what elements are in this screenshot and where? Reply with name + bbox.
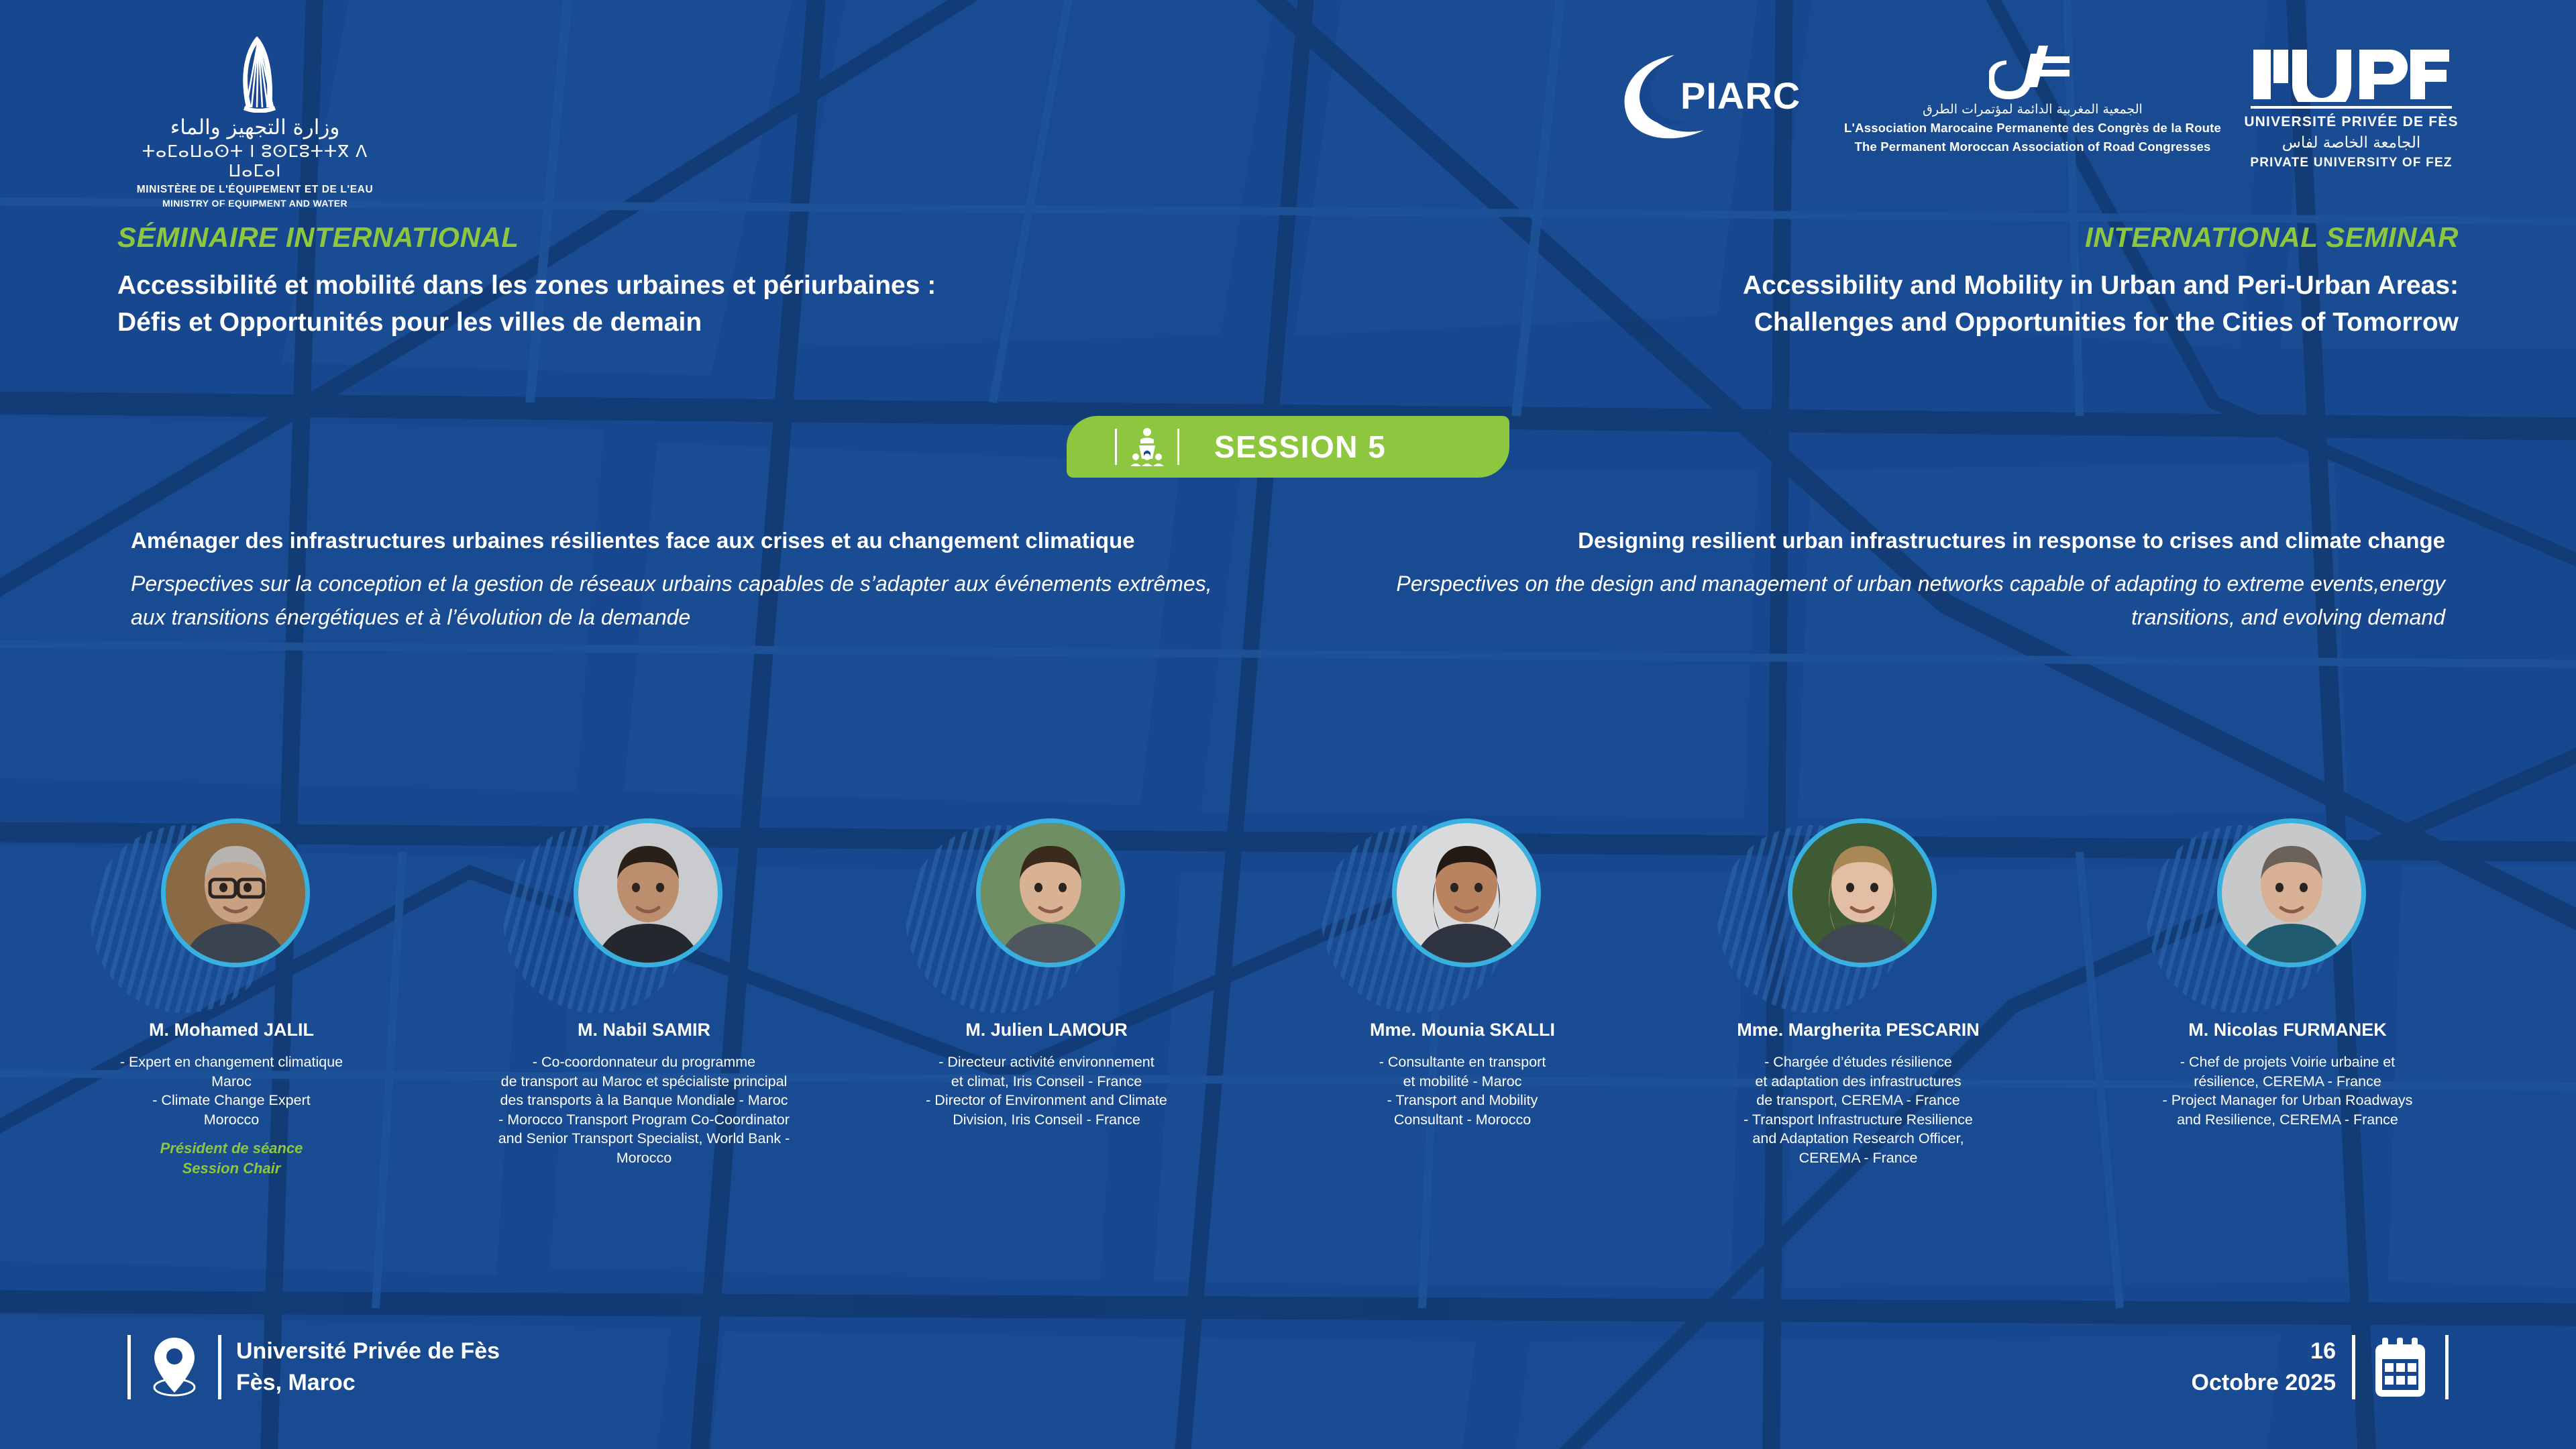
speaker-photo-wrapper [946,805,1147,1013]
upf-english: PRIVATE UNIVERSITY OF FEZ [2241,156,2462,170]
kicker-french: SÉMINAIRE INTERNATIONAL [117,221,1191,254]
kicker-english: INTERNATIONAL SEMINAR [1385,221,2459,254]
speaker-card: M. Julien LAMOUR- Directeur activité env… [845,805,1248,1129]
speaker-avatar [2217,818,2366,967]
title-french-line2: Défis et Opportunités pour les villes de… [117,304,1191,341]
piarc-logo: PIARC [1610,47,1811,141]
speaker-card: M. Nabil SAMIR- Co-coordonnateur du prog… [436,805,852,1168]
arch-bridge-icon [205,32,305,113]
date-text: 16 Octobre 2025 [2192,1336,2336,1399]
date-day: 16 [2192,1336,2336,1367]
speaker-avatar [161,818,310,967]
venue-line2: Fès, Maroc [236,1367,500,1399]
upf-monogram-icon [2251,47,2452,102]
upf-french: UNIVERSITÉ PRIVÉE DE FÈS [2241,114,2462,130]
speaker-avatar [1392,818,1541,967]
session-description-english: Designing resilient urban infrastructure… [1358,523,2445,635]
speaker-photo-wrapper [1758,805,1959,1013]
speaker-role: - Co-coordonnateur du programmede transp… [436,1053,852,1168]
speaker-role: - Consultante en transportet mobilité - … [1261,1053,1664,1129]
amr-monogram-icon [1989,42,2076,99]
speaker-avatar [1788,818,1937,967]
badge-divider-left [1115,429,1117,465]
title-english-line2: Challenges and Opportunities for the Cit… [1385,304,2459,341]
speaker-name: M. Mohamed JALIL [30,1018,433,1042]
date-divider-right [2445,1335,2449,1399]
speakers-row: M. Mohamed JALIL- Expert en changement c… [0,805,2576,1301]
date-block: 16 Octobre 2025 [2192,1335,2449,1399]
session-chair-label: Président de séanceSession Chair [30,1138,433,1178]
session-heading-english: Designing resilient urban infrastructure… [1358,523,2445,558]
title-english-line1: Accessibility and Mobility in Urban and … [1385,267,2459,304]
amr-arabic: الجمعية المغربية الدائمة لمؤتمرات الطرق [1838,102,2227,117]
footer: Université Privée de Fès Fès, Maroc 16 O… [0,1328,2576,1449]
badge-divider-right [1177,429,1179,465]
speaker-name: M. Julien LAMOUR [845,1018,1248,1042]
speaker-role: - Expert en changement climatiqueMaroc- … [30,1053,433,1129]
venue-divider-left [127,1335,131,1399]
ministry-french: MINISTÈRE DE L'ÉQUIPEMENT ET DE L'EAU [114,184,396,196]
session-badge-label: SESSION 5 [1214,429,1386,465]
speaker-card: Mme. Mounia SKALLI- Consultante en trans… [1261,805,1664,1129]
speaker-avatar [976,818,1125,967]
speaker-photo-wrapper [131,805,332,1013]
map-pin-icon [148,1335,201,1399]
title-english: Accessibility and Mobility in Urban and … [1385,267,2459,341]
seminar-title-french: SÉMINAIRE INTERNATIONAL Accessibilité et… [117,221,1191,341]
speaker-photo-wrapper [1362,805,1563,1013]
speaker-name: Mme. Margherita PESCARIN [1650,1018,2066,1042]
date-divider-left [2352,1335,2355,1399]
upf-arabic: الجامعة الخاصة لفاس [2241,134,2462,152]
ministry-arabic: وزارة التجهيز والماء [114,115,396,140]
speaker-photo-wrapper [543,805,745,1013]
amr-logo: الجمعية المغربية الدائمة لمؤتمرات الطرق … [1838,42,2227,154]
speaker-card: M. Nicolas FURMANEK- Chef de projets Voi… [2086,805,2489,1129]
ministry-tifinagh: ⵜⴰⵎⴰⵡⴰⵙⵜ ⵏ ⵓⵙⵎⵓⵜⵜⴳ ⴷ ⵡⴰⵎⴰⵏ [114,142,396,180]
speaker-card: Mme. Margherita PESCARIN- Chargée d’étud… [1650,805,2066,1168]
calendar-icon [2371,1336,2429,1398]
venue-text: Université Privée de Fès Fès, Maroc [236,1336,500,1399]
speaker-podium-audience-icon [1128,427,1167,466]
session-subtitle-french: Perspectives sur la conception et la ges… [131,568,1218,635]
speaker-role: - Directeur activité environnementet cli… [845,1053,1248,1129]
header-logos: وزارة التجهيز والماء ⵜⴰⵎⴰⵡⴰⵙⵜ ⵏ ⵓⵙⵎⵓⵜⵜⴳ … [0,0,2576,201]
venue-line1: Université Privée de Fès [236,1336,500,1367]
title-french: Accessibilité et mobilité dans les zones… [117,267,1191,341]
speaker-name: Mme. Mounia SKALLI [1261,1018,1664,1042]
speaker-name: M. Nabil SAMIR [436,1018,852,1042]
speaker-card: M. Mohamed JALIL- Expert en changement c… [30,805,433,1178]
title-french-line1: Accessibilité et mobilité dans les zones… [117,267,1191,304]
upf-divider [2251,106,2452,109]
speaker-role: - Chef de projets Voirie urbaine etrésil… [2086,1053,2489,1129]
session-heading-french: Aménager des infrastructures urbaines ré… [131,523,1218,558]
venue-divider-right [218,1335,221,1399]
speaker-photo-wrapper [2187,805,2388,1013]
session-subtitle-english: Perspectives on the design and managemen… [1358,568,2445,635]
amr-french: L'Association Marocaine Permanente des C… [1838,121,2227,136]
seminar-title-english: INTERNATIONAL SEMINAR Accessibility and … [1385,221,2459,341]
session-description-french: Aménager des infrastructures urbaines ré… [131,523,1218,635]
session-badge: SESSION 5 [1067,416,1509,478]
piarc-label: PIARC [1680,74,1801,117]
upf-logo: UNIVERSITÉ PRIVÉE DE FÈS الجامعة الخاصة … [2241,47,2462,170]
amr-english: The Permanent Moroccan Association of Ro… [1838,140,2227,154]
ministry-logo: وزارة التجهيز والماء ⵜⴰⵎⴰⵡⴰⵙⵜ ⵏ ⵓⵙⵎⵓⵜⵜⴳ … [114,32,396,209]
speaker-name: M. Nicolas FURMANEK [2086,1018,2489,1042]
speaker-avatar [574,818,722,967]
date-monthyear: Octobre 2025 [2192,1367,2336,1399]
speaker-role: - Chargée d’études résilienceet adaptati… [1650,1053,2066,1168]
venue-block: Université Privée de Fès Fès, Maroc [127,1335,500,1399]
ministry-english: MINISTRY OF EQUIPMENT AND WATER [114,198,396,209]
